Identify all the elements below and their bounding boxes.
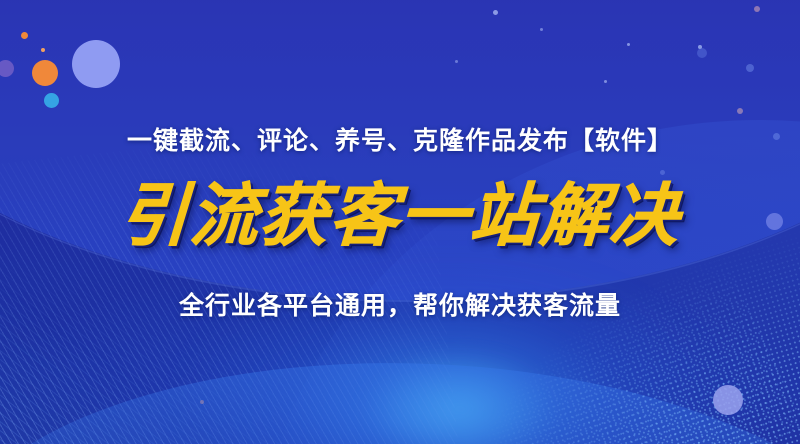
- circle-cyan-small: [44, 93, 59, 108]
- circle-periwinkle-lower-right: [713, 385, 743, 415]
- circle-violet-edge: [0, 60, 14, 77]
- circle-periwinkle-large: [72, 40, 120, 88]
- circle-orange-micro: [41, 48, 45, 52]
- headline-text: 引流获客一站解决: [0, 182, 800, 250]
- circle-orange-medium: [32, 60, 58, 86]
- subtitle-text: 全行业各平台通用，帮你解决获客流量: [0, 286, 800, 322]
- circle-orange-tiny: [21, 32, 28, 39]
- promo-banner: 一键截流、评论、养号、克隆作品发布【软件】 引流获客一站解决 全行业各平台通用，…: [0, 0, 800, 444]
- tagline-text: 一键截流、评论、养号、克隆作品发布【软件】: [0, 121, 800, 157]
